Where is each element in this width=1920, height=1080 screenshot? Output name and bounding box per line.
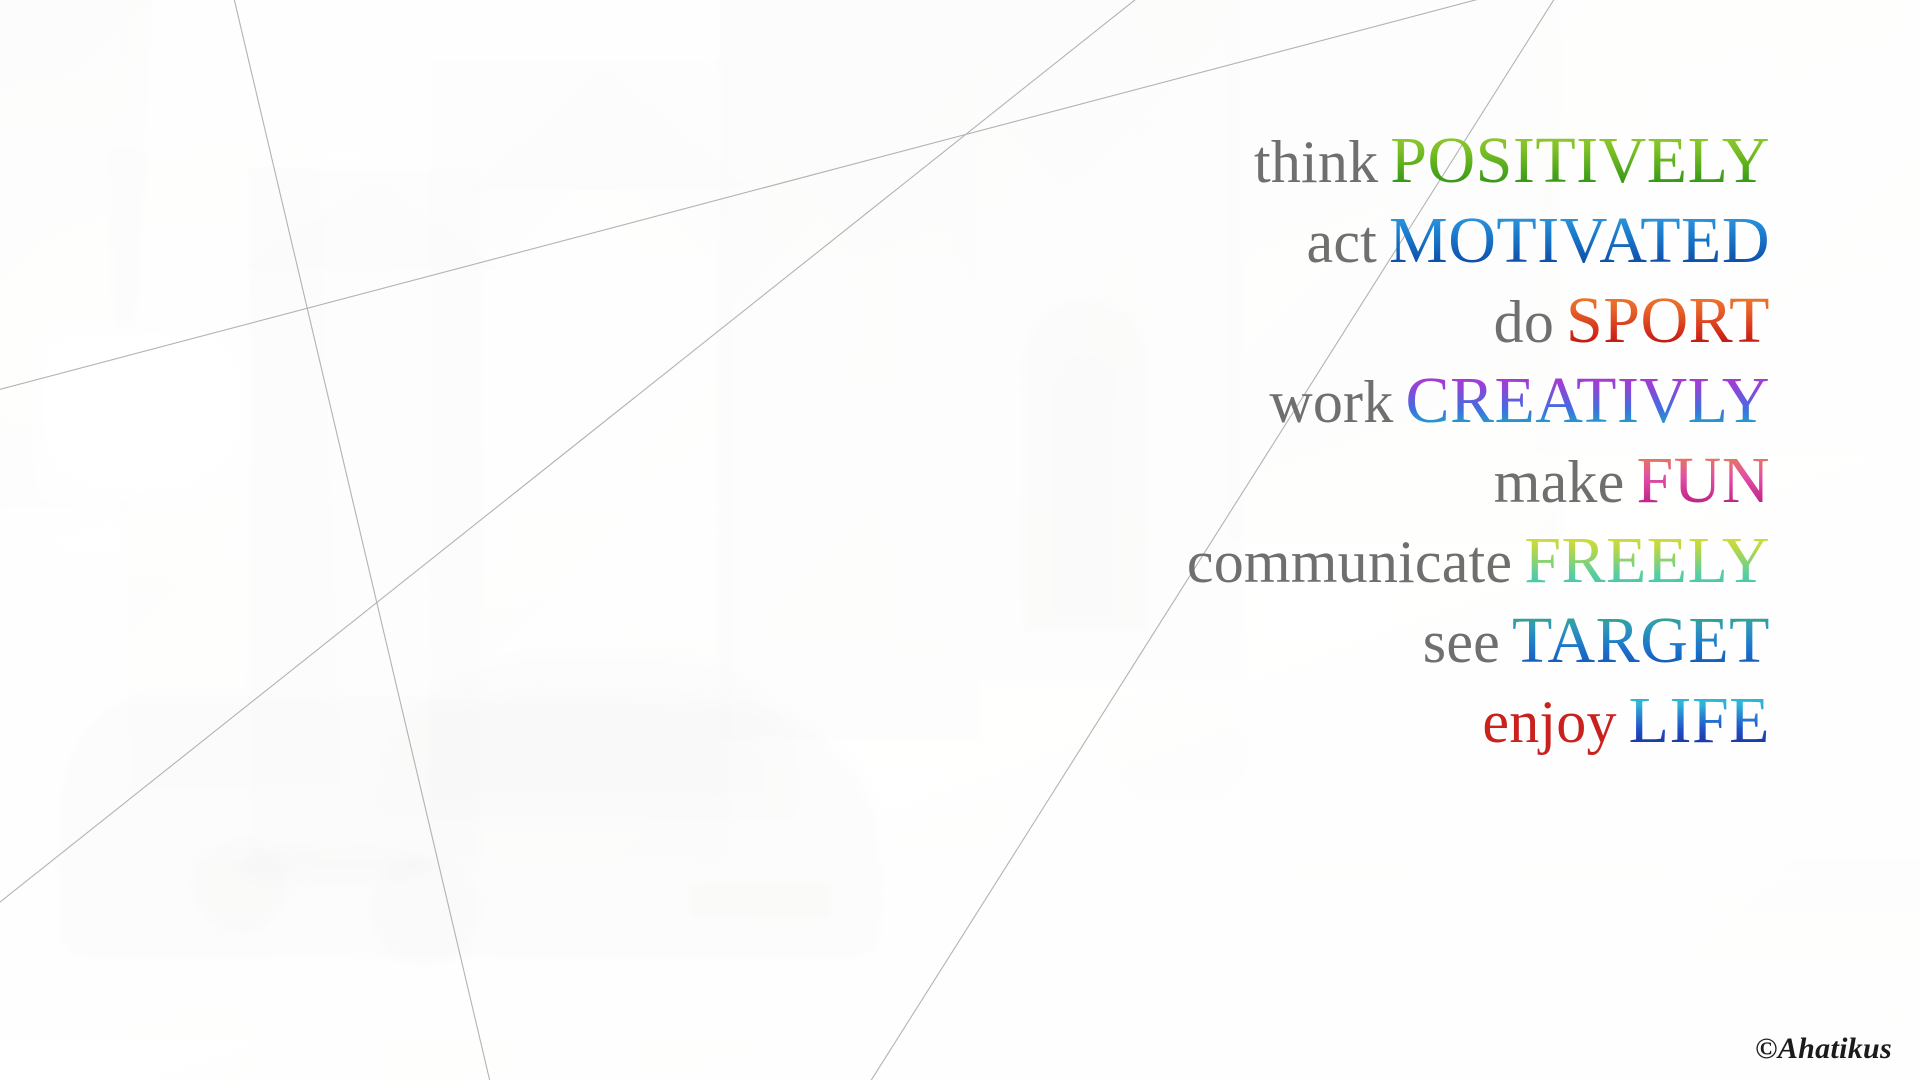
slogan-keyword-positively: POSITIVELY: [1390, 124, 1770, 197]
poster-canvas: thinkPOSITIVELY actMOTIVATED doSPORT wor…: [0, 0, 1920, 1080]
slogan-line: doSPORT: [870, 288, 1770, 354]
slogan-keyword-fun: FUN: [1636, 444, 1770, 517]
slogan-line: enjoyLIFE: [870, 688, 1770, 754]
slogan-keyword-creativly: CREATIVLY: [1405, 364, 1770, 437]
slogan-line: thinkPOSITIVELY: [870, 128, 1770, 194]
copyright-signature: ©Ahatikus: [1755, 1032, 1892, 1066]
slogan-verb: think: [1254, 129, 1378, 195]
guide-line: [232, 0, 492, 1080]
slogan-keyword-freely: FREELY: [1524, 524, 1770, 597]
slogan-verb: act: [1307, 209, 1378, 275]
slogan-verb: see: [1423, 609, 1500, 675]
slogan-verb: communicate: [1187, 529, 1512, 595]
slogan-line: actMOTIVATED: [870, 208, 1770, 274]
slogan-line: seeTARGET: [870, 608, 1770, 674]
slogan-keyword-motivated: MOTIVATED: [1389, 204, 1770, 277]
slogan-verb: work: [1269, 369, 1393, 435]
slogan-verb: make: [1494, 449, 1625, 515]
slogan-line: workCREATIVLY: [870, 368, 1770, 434]
slogan-keyword-sport: SPORT: [1566, 284, 1770, 357]
slogan-verb: enjoy: [1482, 689, 1616, 755]
slogan-block: thinkPOSITIVELY actMOTIVATED doSPORT wor…: [870, 128, 1770, 768]
slogan-line: makeFUN: [870, 448, 1770, 514]
slogan-keyword-target: TARGET: [1512, 604, 1770, 677]
slogan-line: communicateFREELY: [870, 528, 1770, 594]
slogan-verb: do: [1494, 289, 1554, 355]
slogan-keyword-life: LIFE: [1629, 684, 1770, 757]
